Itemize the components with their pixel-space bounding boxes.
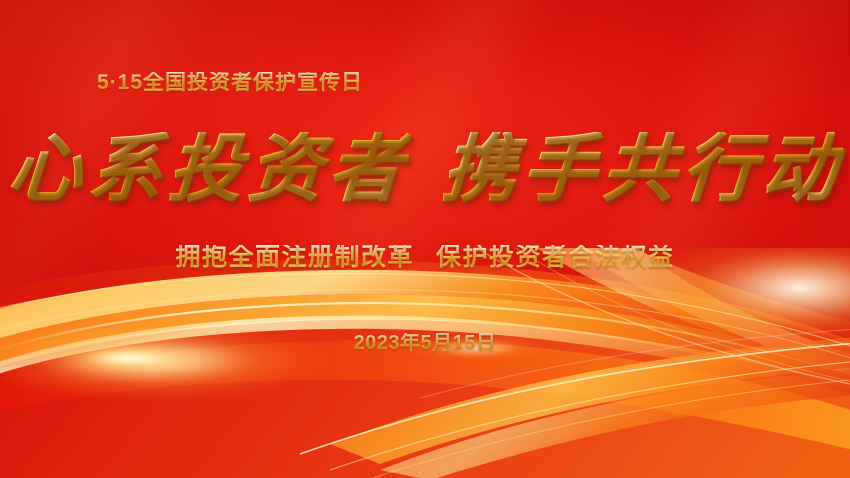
campaign-day-label: 5·15全国投资者保护宣传日 <box>97 72 363 93</box>
headline-part-1: 心系投资者 <box>5 132 410 206</box>
tagline-part-2: 保护投资者合法权益 <box>436 243 675 271</box>
headline-part-2: 携手共行动 <box>439 132 844 206</box>
ribbon-artwork <box>0 248 850 478</box>
headline: 心系投资者携手共行动 <box>0 132 850 206</box>
event-date: 2023年5月15日 <box>0 333 850 353</box>
tagline: 拥抱全面注册制改革保护投资者合法权益 <box>0 245 850 270</box>
tagline-part-1: 拥抱全面注册制改革 <box>175 243 414 271</box>
investor-protection-poster: 5·15全国投资者保护宣传日 心系投资者携手共行动 拥抱全面注册制改革保护投资者… <box>0 0 850 478</box>
